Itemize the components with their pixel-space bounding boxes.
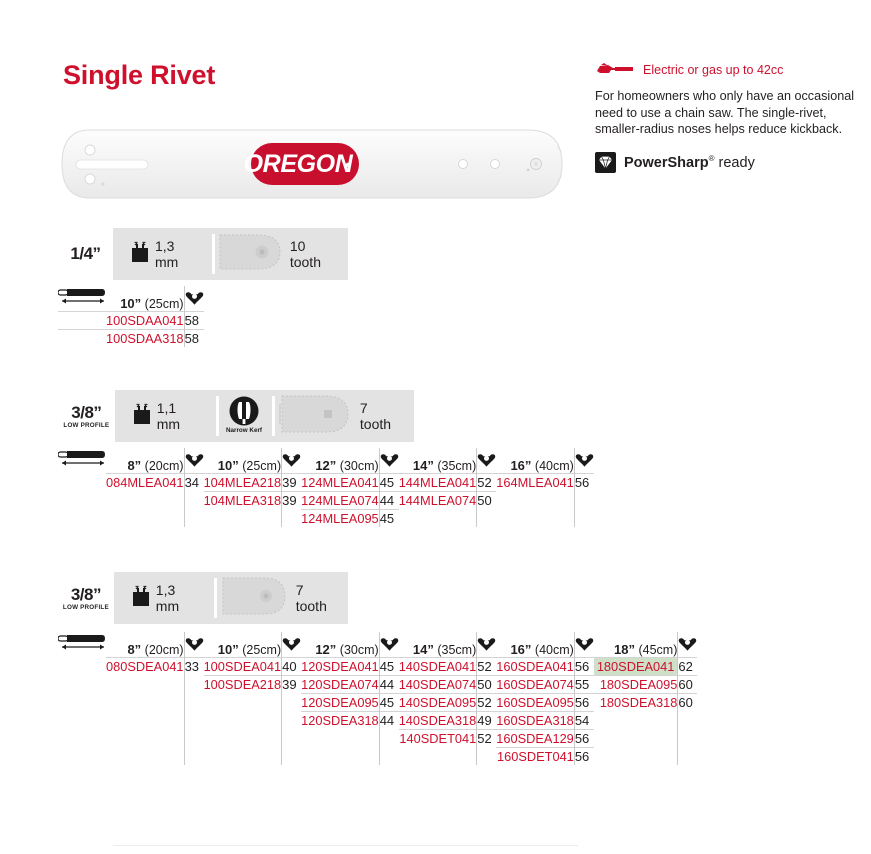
spec-band-group-1: 1/4” 1,3 mm 10 tooth — [58, 228, 348, 280]
pitch-badge: 3/8” LOW PROFILE — [58, 572, 117, 624]
footer-divider — [113, 845, 578, 846]
gauge-label: 1,1 mm — [157, 400, 202, 432]
drive-link-count: 39 — [282, 473, 302, 491]
drive-link-count — [184, 509, 204, 527]
drive-link-count — [574, 509, 594, 527]
part-number[interactable]: 140SDEA318 — [399, 711, 477, 729]
bar-length-icon — [58, 286, 106, 312]
part-number — [594, 729, 678, 747]
part-number[interactable]: 100SDEA041 — [204, 657, 282, 675]
part-number — [106, 729, 184, 747]
part-number[interactable]: 160SDEA129 — [496, 729, 574, 747]
table-header-row: 10” (25cm) — [58, 286, 204, 312]
drive-link-count: 58 — [184, 330, 204, 348]
drive-link-count: 49 — [477, 711, 497, 729]
drive-link-count — [184, 491, 204, 509]
drive-link-count — [184, 693, 204, 711]
part-number[interactable]: 140SDEA095 — [399, 693, 477, 711]
narrow-kerf-icon: Narrow Kerf — [226, 394, 262, 439]
page-title: Single Rivet — [63, 60, 215, 91]
drive-link-count: 52 — [477, 657, 497, 675]
part-number — [204, 509, 282, 527]
column-header-length: 10” (25cm) — [106, 286, 184, 312]
drive-link-count — [678, 747, 698, 765]
drive-link-icon — [184, 448, 204, 473]
part-number[interactable]: 104MLEA218 — [204, 473, 282, 491]
drive-link-count: 54 — [574, 711, 594, 729]
pitch-sub: LOW PROFILE — [63, 604, 109, 611]
part-number — [204, 729, 282, 747]
column-header-length: 10” (25cm) — [204, 448, 282, 473]
drive-link-count: 60 — [678, 675, 698, 693]
drive-link-count: 45 — [379, 509, 399, 527]
drive-link-count: 56 — [574, 657, 594, 675]
product-table-group-1: 10” (25cm) 100SDAA041 58 — [58, 286, 204, 347]
part-number[interactable]: 160SDEA041 — [496, 657, 574, 675]
table-row: 100SDAA041 58 — [58, 312, 204, 330]
drive-link-count — [184, 729, 204, 747]
drive-link-count — [282, 747, 302, 765]
drive-link-icon — [477, 632, 497, 657]
drive-link-icon — [574, 632, 594, 657]
part-number[interactable]: 160SDEA318 — [496, 711, 574, 729]
drive-link-count: 44 — [379, 491, 399, 509]
part-number — [301, 747, 379, 765]
length-inches: 14” — [413, 642, 434, 657]
drive-link-icon — [379, 632, 399, 657]
powersharp-label: PowerSharp® ready — [624, 154, 755, 171]
part-number — [496, 491, 574, 509]
drive-link-count: 50 — [477, 675, 497, 693]
length-inches: 10” — [218, 642, 239, 657]
part-number — [106, 693, 184, 711]
part-number[interactable]: 144MLEA074 — [399, 491, 477, 509]
drive-link-count — [184, 675, 204, 693]
drive-link-count — [678, 711, 698, 729]
part-number — [204, 747, 282, 765]
drive-link-count — [184, 747, 204, 765]
guide-bar-illustration: OREGON — [58, 122, 570, 206]
spec-band-group-3: 3/8” LOW PROFILE 1,3 mm — [58, 572, 348, 624]
length-cm: (40cm) — [535, 643, 574, 657]
drive-link-count — [477, 747, 497, 765]
length-cm: (35cm) — [437, 643, 476, 657]
drive-link-count: 44 — [379, 675, 399, 693]
part-number — [301, 729, 379, 747]
drive-link-count: 45 — [379, 473, 399, 491]
svg-text:OREGON: OREGON — [244, 150, 354, 178]
table-row: 100SDEA218 39 120SDEA074 44 140SDEA074 5… — [58, 675, 697, 693]
part-number[interactable]: 164MLEA041 — [496, 473, 574, 491]
powersharp-brand: PowerSharp — [624, 154, 709, 170]
gauge-cell: 1,1 mm — [118, 390, 216, 442]
spec-band-group-2: 3/8” LOW PROFILE 1,1 mm Narrow Ke — [58, 390, 414, 442]
powersharp-suffix: ready — [715, 154, 755, 170]
drive-link-count: 56 — [574, 729, 594, 747]
drive-link-count — [282, 711, 302, 729]
part-number[interactable]: 180SDEA318 — [594, 693, 678, 711]
drive-link-icon — [184, 286, 204, 312]
part-number — [106, 747, 184, 765]
length-cm: (30cm) — [340, 643, 379, 657]
part-number — [204, 711, 282, 729]
drive-link-icon — [678, 632, 698, 657]
drive-link-count — [574, 491, 594, 509]
pitch-sub: LOW PROFILE — [63, 422, 109, 429]
drive-link-count: 58 — [184, 312, 204, 330]
part-number — [594, 747, 678, 765]
part-number[interactable]: 160SDET041 — [496, 747, 574, 765]
drive-link-count: 34 — [184, 473, 204, 491]
pitch-badge: 3/8” LOW PROFILE — [58, 390, 118, 442]
table-row: 084MLEA041 34 104MLEA218 39 124MLEA041 4… — [58, 473, 594, 491]
part-number[interactable]: 120SDEA318 — [301, 711, 379, 729]
length-cm: (20cm) — [145, 643, 184, 657]
drive-link-count — [678, 729, 698, 747]
length-inches: 14” — [413, 458, 434, 473]
bar-length-icon — [58, 448, 106, 473]
drive-link-icon — [574, 448, 594, 473]
part-number[interactable]: 160SDEA074 — [496, 675, 574, 693]
table-row: 120SDEA095 45 140SDEA095 52 160SDEA095 5… — [58, 693, 697, 711]
part-number[interactable]: 084MLEA041 — [106, 473, 184, 491]
table-header-row: 8” (20cm) 10” (25cm) 12” ( — [58, 632, 697, 657]
column-header-length: 10” (25cm) — [204, 632, 282, 657]
sprocket-nose-icon — [218, 229, 284, 280]
length-inches: 18” — [614, 642, 635, 657]
part-number[interactable]: 124MLEA074 — [301, 491, 379, 509]
part-number[interactable]: 124MLEA041 — [301, 473, 379, 491]
drive-link-count: 56 — [574, 473, 594, 491]
gauge-cell: 1,3 mm — [116, 228, 212, 280]
gauge-icon — [130, 240, 150, 269]
drive-link-count: 45 — [379, 657, 399, 675]
sprocket-nose-icon — [278, 391, 354, 442]
drive-link-icon — [379, 448, 399, 473]
part-number — [106, 675, 184, 693]
length-inches: 10” — [218, 458, 239, 473]
length-cm: (25cm) — [242, 643, 281, 657]
part-number — [399, 509, 477, 527]
drive-link-count: 56 — [574, 747, 594, 765]
part-number[interactable]: 180SDEA095 — [594, 675, 678, 693]
drive-link-count: 39 — [282, 675, 302, 693]
table-row: 160SDET041 56 — [58, 747, 697, 765]
powersharp-row: PowerSharp® ready — [595, 152, 857, 173]
drive-link-count: 62 — [678, 657, 698, 675]
drive-link-count: 52 — [477, 693, 497, 711]
length-cm: (20cm) — [145, 459, 184, 473]
part-number — [594, 711, 678, 729]
column-header-length: 18” (45cm) — [594, 632, 678, 657]
table-header-row: 8” (20cm) 10” (25cm) 12” ( — [58, 448, 594, 473]
part-number[interactable]: 104MLEA318 — [204, 491, 282, 509]
part-number[interactable]: 140SDEA041 — [399, 657, 477, 675]
catalog-page: Single Rivet Electric or gas up to 42cc … — [0, 0, 871, 854]
part-number[interactable]: 120SDEA095 — [301, 693, 379, 711]
gauge-icon — [131, 584, 151, 613]
length-inches: 8” — [127, 642, 141, 657]
info-panel: Electric or gas up to 42cc For homeowner… — [595, 62, 857, 173]
column-header-length: 16” (40cm) — [496, 632, 574, 657]
column-header-length: 14” (35cm) — [399, 448, 477, 473]
part-number[interactable]: 124MLEA095 — [301, 509, 379, 527]
part-number[interactable]: 140SDET041 — [399, 729, 477, 747]
gauge-label: 1,3 mm — [156, 582, 200, 614]
sprocket-nose-icon — [220, 573, 290, 624]
part-number — [204, 693, 282, 711]
drive-link-icon — [184, 632, 204, 657]
drive-link-icon — [282, 632, 302, 657]
diamond-icon — [595, 152, 616, 173]
part-number-selected[interactable]: 180SDEA041 — [594, 657, 678, 675]
table-row: 080SDEA041 33 100SDEA041 40 120SDEA041 4… — [58, 657, 697, 675]
table-row: 140SDET041 52 160SDEA129 56 — [58, 729, 697, 747]
gauge-label: 1,3 mm — [155, 238, 198, 270]
length-inches: 16” — [510, 458, 531, 473]
table-row: 120SDEA318 44 140SDEA318 49 160SDEA318 5… — [58, 711, 697, 729]
part-number-highlight[interactable]: 180SDEA041 — [594, 658, 678, 675]
table-body: 100SDAA041 58 100SDAA318 58 — [58, 312, 204, 348]
column-header-length: 12” (30cm) — [301, 448, 379, 473]
part-number[interactable]: 100SDEA218 — [204, 675, 282, 693]
part-number[interactable]: 120SDEA041 — [301, 657, 379, 675]
column-header-length: 8” (20cm) — [106, 632, 184, 657]
part-number — [399, 747, 477, 765]
length-cm: (30cm) — [340, 459, 379, 473]
part-number[interactable]: 140SDEA074 — [399, 675, 477, 693]
table-body: 080SDEA041 33 100SDEA041 40 120SDEA041 4… — [58, 657, 697, 765]
part-number — [106, 711, 184, 729]
drive-link-count — [282, 509, 302, 527]
part-number[interactable]: 100SDAA041 — [106, 312, 184, 330]
length-inches: 12” — [315, 642, 336, 657]
column-header-length: 12” (30cm) — [301, 632, 379, 657]
oregon-logo: OREGON — [244, 143, 359, 185]
drive-link-count — [184, 711, 204, 729]
pitch-value: 3/8” — [71, 404, 101, 421]
drive-link-icon — [282, 448, 302, 473]
part-number — [106, 491, 184, 509]
length-cm: (40cm) — [535, 459, 574, 473]
pitch-value: 1/4” — [70, 245, 100, 262]
drive-link-count: 52 — [477, 729, 497, 747]
drive-link-count: 40 — [282, 657, 302, 675]
length-inches: 12” — [315, 458, 336, 473]
drive-link-count: 60 — [678, 693, 698, 711]
chainsaw-icon — [595, 62, 635, 78]
nose-cell: 10 tooth — [212, 228, 348, 280]
nose-cell: 7 tooth — [272, 390, 414, 442]
bar-length-icon — [58, 632, 106, 657]
table-body: 084MLEA041 34 104MLEA218 39 124MLEA041 4… — [58, 473, 594, 527]
table-row: 124MLEA095 45 — [58, 509, 594, 527]
part-number[interactable]: 144MLEA041 — [399, 473, 477, 491]
drive-link-count: 39 — [282, 491, 302, 509]
length-inches: 16” — [510, 642, 531, 657]
column-header-length: 8” (20cm) — [106, 448, 184, 473]
nose-label: 10 tooth — [290, 238, 334, 270]
gauge-cell: 1,3 mm — [117, 572, 214, 624]
length-cm: (25cm) — [242, 459, 281, 473]
narrow-kerf-cell: Narrow Kerf — [216, 390, 272, 442]
drive-link-count: 45 — [379, 693, 399, 711]
length-cm: (25cm) — [145, 297, 184, 311]
length-cm: (35cm) — [437, 459, 476, 473]
drive-link-count: 52 — [477, 473, 497, 491]
info-description: For homeowners who only have an occasion… — [595, 88, 857, 138]
part-number — [496, 509, 574, 527]
nose-cell: 7 tooth — [214, 572, 348, 624]
product-table-group-3: 8” (20cm) 10” (25cm) 12” ( — [58, 632, 697, 765]
part-number — [106, 509, 184, 527]
svg-text:Narrow Kerf: Narrow Kerf — [226, 427, 262, 434]
drive-link-count: 56 — [574, 693, 594, 711]
part-number[interactable]: 080SDEA041 — [106, 657, 184, 675]
part-number[interactable]: 100SDAA318 — [106, 330, 184, 348]
drive-link-count — [477, 509, 497, 527]
drive-link-icon — [477, 448, 497, 473]
drive-link-count: 44 — [379, 711, 399, 729]
column-header-length: 14” (35cm) — [399, 632, 477, 657]
nose-label: 7 tooth — [360, 400, 400, 432]
length-cm: (45cm) — [638, 643, 677, 657]
info-headline-row: Electric or gas up to 42cc — [595, 62, 857, 78]
drive-link-count: 33 — [184, 657, 204, 675]
drive-link-count — [379, 747, 399, 765]
length-inches: 10” — [120, 296, 141, 311]
nose-label: 7 tooth — [296, 582, 334, 614]
drive-link-count: 55 — [574, 675, 594, 693]
drive-link-count: 50 — [477, 491, 497, 509]
table-row: 104MLEA318 39 124MLEA074 44 144MLEA074 5… — [58, 491, 594, 509]
part-number[interactable]: 120SDEA074 — [301, 675, 379, 693]
drive-link-count — [379, 729, 399, 747]
drive-link-count — [282, 693, 302, 711]
info-headline: Electric or gas up to 42cc — [643, 63, 783, 77]
column-header-length: 16” (40cm) — [496, 448, 574, 473]
pitch-badge: 1/4” — [58, 228, 116, 280]
length-inches: 8” — [127, 458, 141, 473]
product-table-group-2: 8” (20cm) 10” (25cm) 12” ( — [58, 448, 594, 527]
part-number[interactable]: 160SDEA095 — [496, 693, 574, 711]
table-row: 100SDAA318 58 — [58, 330, 204, 348]
gauge-icon — [132, 402, 152, 431]
drive-link-count — [282, 729, 302, 747]
pitch-value: 3/8” — [71, 586, 101, 603]
